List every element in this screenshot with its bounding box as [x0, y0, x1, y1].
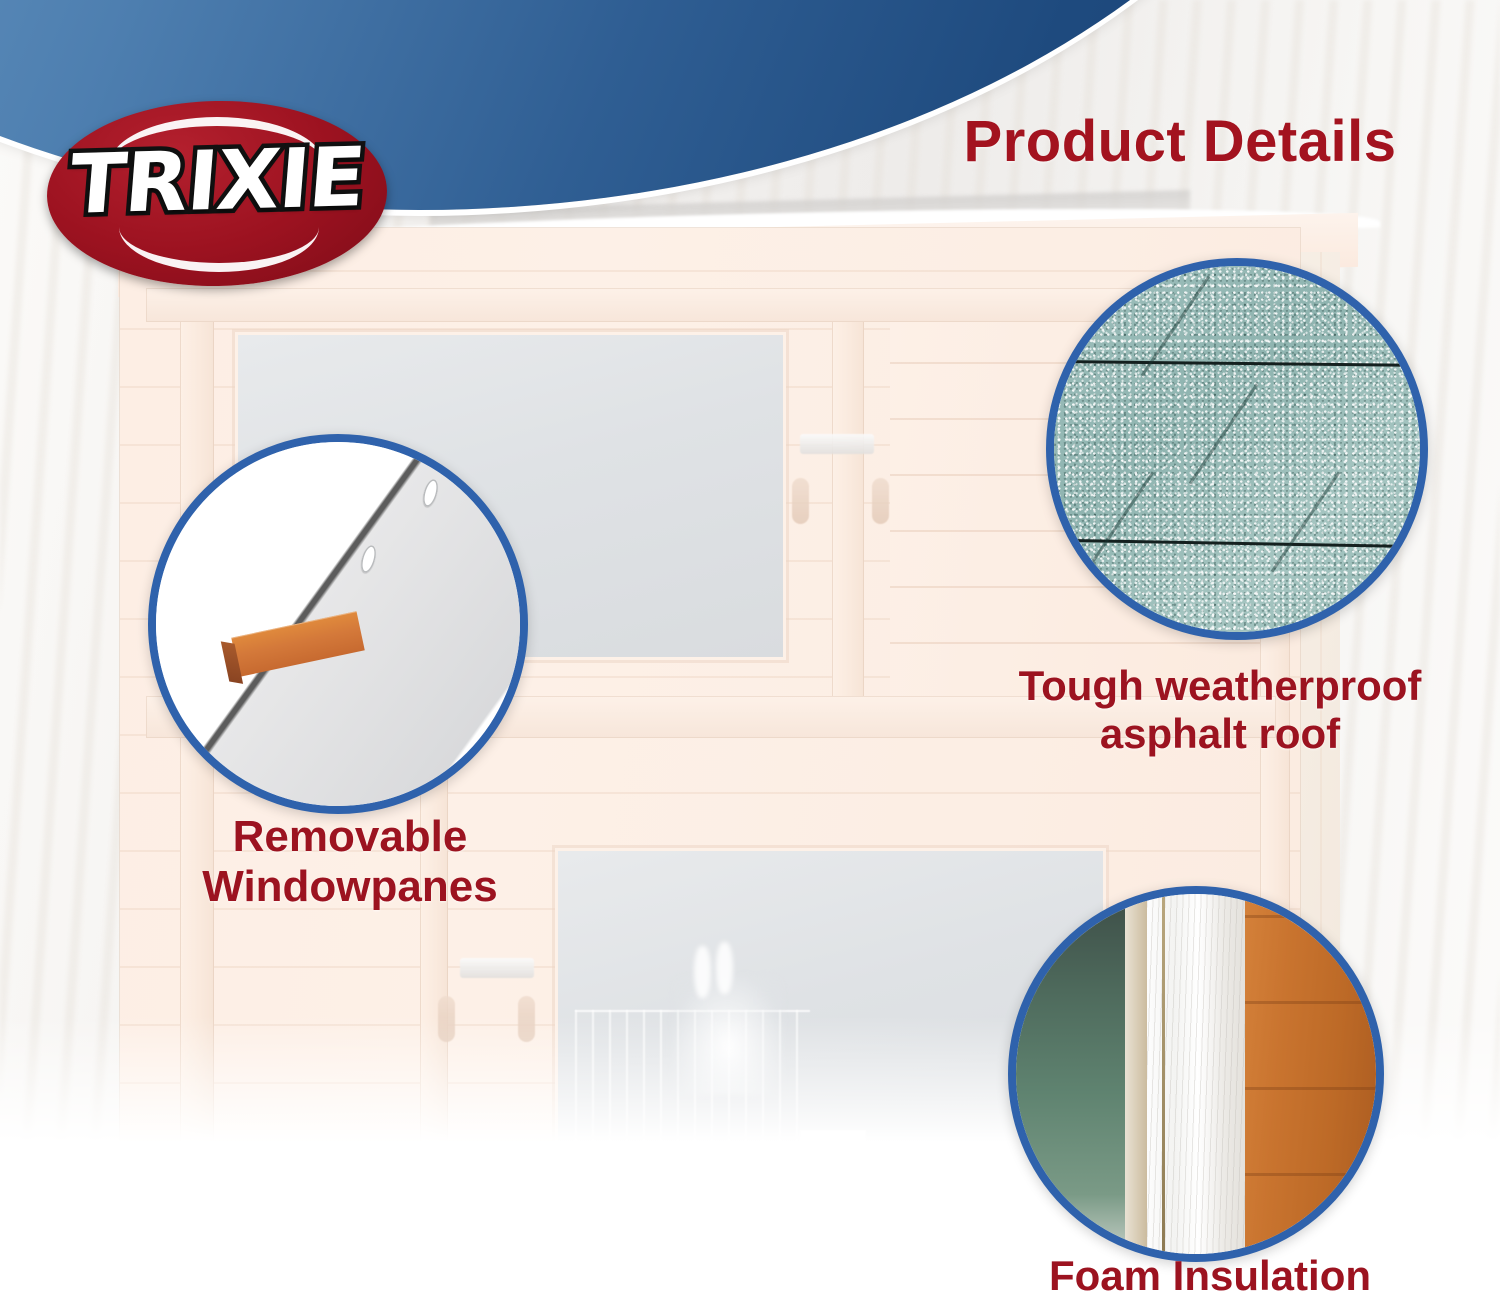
detail-circle-foam-insulation: [1008, 886, 1384, 1262]
hutch-hinge-upper: [800, 434, 874, 454]
caption-foam-insulation: Foam Insulation: [930, 1252, 1490, 1300]
trixie-logo: TRIXIE: [47, 101, 387, 286]
detail-circle-removable-windowpanes: [148, 434, 528, 814]
hutch-post-mid-upper: [832, 288, 864, 708]
asphalt-shingle-texture: [1046, 258, 1428, 640]
wall-cross-section: [1008, 886, 1384, 1262]
product-details-infographic: TRIXIE Product Details Removable Windowp…: [0, 0, 1500, 1316]
foam-seam-line: [1162, 894, 1165, 1254]
plywood-layer: [1125, 886, 1148, 1262]
rabbit-ear-left: [694, 946, 711, 998]
rabbit-ear-right: [716, 942, 733, 994]
detail-circle-asphalt-roof: [1046, 258, 1428, 640]
caption-line-2: asphalt roof: [940, 710, 1500, 758]
caption-asphalt-roof: Tough weatherproof asphalt roof: [940, 662, 1500, 758]
hutch-handle-upper-left: [792, 478, 809, 524]
hutch-handle-upper-right: [872, 478, 889, 524]
interior-green-wall: [1008, 886, 1125, 1262]
caption-line-1: Tough weatherproof: [940, 662, 1500, 710]
stained-wood-cladding: [1245, 886, 1384, 1262]
hutch-hinge-lower: [460, 958, 534, 978]
page-title: Product Details: [900, 108, 1460, 175]
caption-removable-windowpanes: Removable Windowpanes: [135, 812, 565, 912]
caption-line-1: Foam Insulation: [930, 1252, 1490, 1300]
caption-line-2: Windowpanes: [135, 862, 565, 912]
logo-wordmark: TRIXIE: [43, 137, 390, 228]
caption-line-1: Removable: [135, 812, 565, 862]
